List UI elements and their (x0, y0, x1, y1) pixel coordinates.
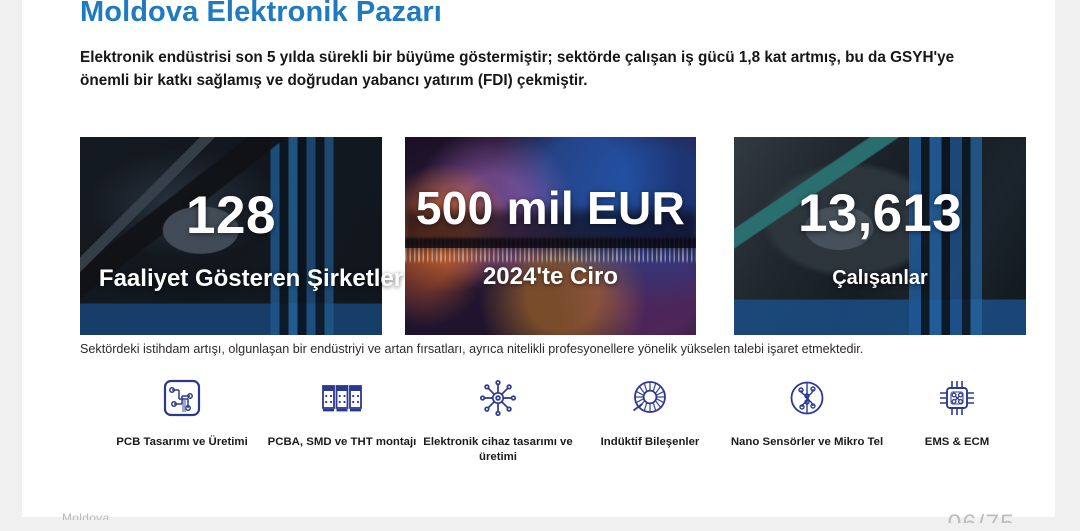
page-number: 06/75 (947, 510, 1015, 523)
service-item-device-design[interactable]: Elektronik cihaz tasarımı ve üretimi (420, 375, 576, 464)
stat-card-turnover[interactable]: 500 mil EUR 2024'te Ciro (405, 137, 696, 335)
service-label: Indüktif Bileşenler (570, 435, 730, 450)
stat-label: Faaliyet Gösteren Şirketler (72, 265, 430, 293)
service-label: PCBA, SMD ve THT montajı (262, 435, 422, 450)
smd-components-icon (262, 375, 422, 421)
service-label: EMS & ECM (888, 435, 1026, 450)
service-item-ems-ecm[interactable]: EMS & ECM (888, 375, 1026, 450)
stat-card-employees[interactable]: 13,613 Çalışanlar (734, 137, 1026, 335)
slide-page: Moldova Elektronik Pazarı Elektronik end… (22, 0, 1055, 517)
footer-left-text: Moldova (62, 511, 109, 520)
stat-value: 13,613 (734, 183, 1026, 244)
pcb-board-icon (102, 375, 262, 421)
service-label: PCB Tasarımı ve Üretimi (102, 435, 262, 450)
slide-viewport: Moldova Elektronik Pazarı Elektronik end… (0, 0, 1080, 531)
stat-value: 500 mil EUR (405, 181, 696, 235)
toroid-inductor-icon (570, 375, 730, 421)
service-label: Elektronik cihaz tasarımı ve üretimi (420, 435, 576, 464)
stat-label: 2024'te Ciro (405, 263, 696, 291)
service-label: Nano Sensörler ve Mikro Tel (718, 435, 896, 450)
intro-paragraph: Elektronik endüstrisi son 5 yılda sürekl… (80, 46, 1000, 93)
page-title: Moldova Elektronik Pazarı (80, 0, 442, 29)
colorful-pcb-macro-photo (405, 137, 696, 335)
stat-value: 128 (80, 185, 382, 246)
microchip-icon (888, 375, 1026, 421)
stat-card-companies[interactable]: 128 Faaliyet Gösteren Şirketler (80, 137, 382, 335)
service-item-pcb[interactable]: PCB Tasarımı ve Üretimi (102, 375, 262, 450)
stat-label: Çalışanlar (734, 267, 1026, 290)
service-item-smd[interactable]: PCBA, SMD ve THT montajı (262, 375, 422, 450)
nano-sensor-icon (718, 375, 896, 421)
radial-node-icon (420, 375, 576, 421)
caption-text: Sektördeki istihdam artışı, olgunlaşan b… (80, 341, 1010, 359)
services-row: PCB Tasarımı ve Üretimi (80, 375, 1040, 475)
service-item-nano-sensor[interactable]: Nano Sensörler ve Mikro Tel (718, 375, 896, 450)
service-item-inductive[interactable]: Indüktif Bileşenler (570, 375, 730, 450)
